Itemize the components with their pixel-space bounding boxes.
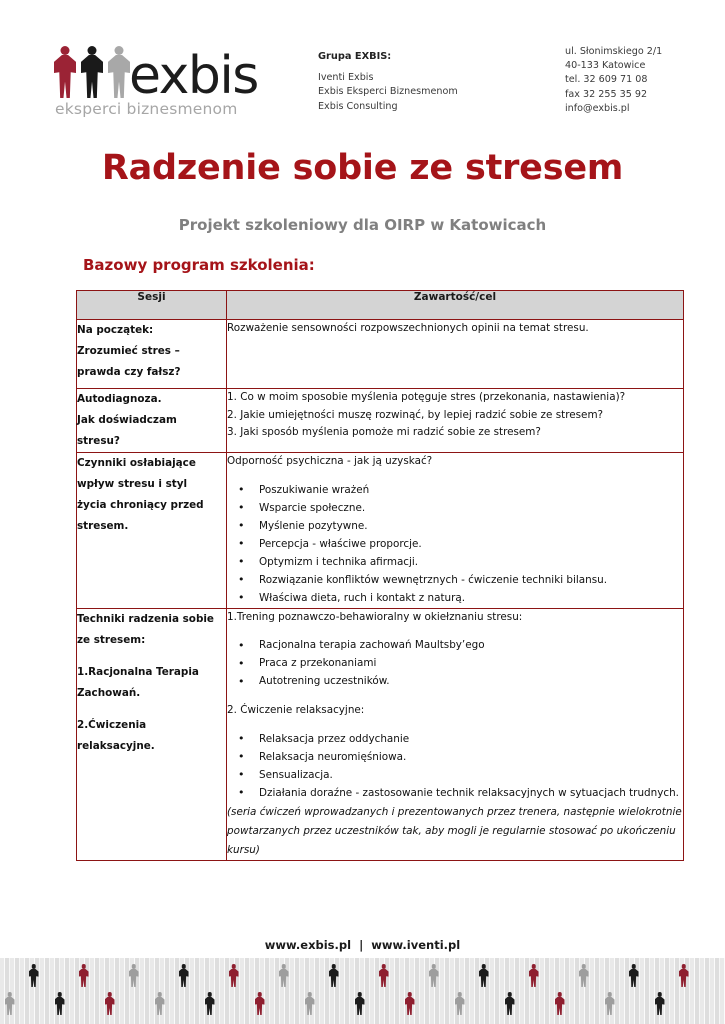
figure-head	[631, 964, 636, 969]
person-figure-icon	[78, 964, 89, 987]
person-figure-icon	[378, 964, 389, 987]
content-subheading: 2. Ćwiczenie relaksacyjne:	[227, 702, 683, 720]
figure-head	[581, 964, 586, 969]
figure-head	[281, 964, 286, 969]
person-figure-icon	[228, 964, 239, 987]
spacer	[227, 691, 683, 702]
link-exbis-website[interactable]: www.exbis.pl	[265, 938, 351, 952]
session-line: Zachowań.	[77, 683, 226, 704]
list-item: Właściwa dieta, ruch i kontakt z naturą.	[259, 590, 683, 608]
figure-body	[379, 969, 389, 988]
figure-head	[88, 46, 97, 55]
figure-head	[115, 46, 124, 55]
figure-body	[429, 969, 439, 988]
person-figure-icon	[428, 964, 439, 987]
table-row: Czynniki osłabiające wpływ stresu i styl…	[77, 453, 684, 609]
session-line: Na początek:	[77, 320, 226, 341]
spacer	[227, 471, 683, 482]
figure-head	[181, 964, 186, 969]
figure-head	[31, 964, 36, 969]
list-item: Autotrening uczestników.	[259, 673, 683, 691]
figure-body	[455, 997, 465, 1016]
session-line: wpływ stresu i styl	[77, 474, 226, 495]
person-figure-icon	[128, 964, 139, 987]
figure-body	[255, 997, 265, 1016]
content-intro: Rozważenie sensowności rozpowszechnionyc…	[227, 320, 683, 338]
list-item: Relaksacja przez oddychanie	[259, 731, 683, 749]
group-company-name: Exbis Eksperci Biznesmenom	[318, 85, 458, 99]
figure-head	[107, 992, 112, 997]
figure-body	[54, 55, 76, 98]
footer-links: www.exbis.pl|www.iventi.pl	[0, 938, 725, 952]
figure-head	[607, 992, 612, 997]
spacer	[227, 626, 683, 637]
figure-body	[579, 969, 589, 988]
figure-body	[355, 997, 365, 1016]
figure-head	[557, 992, 562, 997]
list-item: Sensualizacja.	[259, 767, 683, 785]
content-line: 3. Jaki sposób myślenia pomoże mi radzić…	[227, 424, 683, 442]
figure-head	[657, 992, 662, 997]
list-item: Rozwiązanie konfliktów wewnętrznych - ćw…	[259, 572, 683, 590]
page-title: Radzenie sobie ze stresem	[0, 148, 725, 188]
page-subtitle: Projekt szkoleniowy dla OIRP w Katowicac…	[0, 216, 725, 234]
address-city: 40-133 Katowice	[565, 59, 662, 73]
figure-head	[157, 992, 162, 997]
column-header-sessions: Sesji	[77, 291, 227, 320]
figure-body	[505, 997, 515, 1016]
list-item: Percepcja - właściwe proporcje.	[259, 536, 683, 554]
figure-body	[229, 969, 239, 988]
person-figure-icon	[554, 992, 565, 1015]
figure-body	[629, 969, 639, 988]
figure-head	[331, 964, 336, 969]
group-company-name: Exbis Consulting	[318, 100, 458, 114]
figure-body	[205, 997, 215, 1016]
session-line: stresem.	[77, 516, 226, 537]
table-row: Techniki radzenia sobie ze stresem: 1.Ra…	[77, 608, 684, 860]
session-cell: Autodiagnoza. Jak doświadczam stresu?	[77, 389, 227, 453]
contact-email: info@exbis.pl	[565, 102, 662, 116]
session-cell: Na początek: Zrozumieć stres – prawda cz…	[77, 320, 227, 389]
person-figure-icon	[154, 992, 165, 1015]
company-contact-info: ul. Słonimskiego 2/1 40-133 Katowice tel…	[565, 45, 662, 116]
person-figure-icon	[354, 992, 365, 1015]
figure-head	[57, 992, 62, 997]
figure-body	[5, 997, 15, 1016]
list-item: Wsparcie społeczne.	[259, 500, 683, 518]
session-line: Jak doświadczam	[77, 410, 226, 431]
figure-body	[305, 997, 315, 1016]
session-line: prawda czy fałsz?	[77, 362, 226, 383]
figure-head	[507, 992, 512, 997]
spacer	[77, 704, 226, 715]
session-line: Techniki radzenia sobie	[77, 609, 226, 630]
session-cell: Techniki radzenia sobie ze stresem: 1.Ra…	[77, 608, 227, 860]
footer-separator: |	[351, 938, 371, 952]
content-cell: 1.Trening poznawczo-behawioralny w okieł…	[227, 608, 684, 860]
company-logo: exbis eksperci biznesmenom	[52, 40, 287, 118]
figure-body	[108, 55, 130, 98]
content-line: 1. Co w moim sposobie myślenia potęguje …	[227, 389, 683, 407]
figure-body	[81, 55, 103, 98]
figure-body	[679, 969, 689, 988]
content-subheading: 1.Trening poznawczo-behawioralny w okieł…	[227, 609, 683, 627]
figure-head	[407, 992, 412, 997]
table-row: Na początek: Zrozumieć stres – prawda cz…	[77, 320, 684, 389]
person-figure-icon	[52, 46, 78, 98]
figure-head	[131, 964, 136, 969]
figure-head	[457, 992, 462, 997]
list-item: Racjonalna terapia zachowań Maultsby’ego	[259, 637, 683, 655]
figure-head	[307, 992, 312, 997]
content-line: 2. Jakie umiejętności muszę rozwinąć, by…	[227, 407, 683, 425]
figure-body	[129, 969, 139, 988]
figure-head	[231, 964, 236, 969]
person-figure-icon	[678, 964, 689, 987]
figure-head	[207, 992, 212, 997]
session-line: ze stresem:	[77, 630, 226, 651]
person-figure-icon	[278, 964, 289, 987]
figure-head	[381, 964, 386, 969]
spacer	[77, 651, 226, 662]
address-street: ul. Słonimskiego 2/1	[565, 45, 662, 59]
list-item: Myślenie pozytywne.	[259, 518, 683, 536]
list-item: Działania doraźne - zastosowanie technik…	[259, 785, 683, 803]
figure-head	[257, 992, 262, 997]
content-note: (seria ćwiczeń wprowadzanych i prezentow…	[227, 803, 683, 860]
session-line: Czynniki osłabiające	[77, 453, 226, 474]
session-cell: Czynniki osłabiające wpływ stresu i styl…	[77, 453, 227, 609]
session-line: Autodiagnoza.	[77, 389, 226, 410]
content-intro: Odporność psychiczna - jak ją uzyskać?	[227, 453, 683, 471]
list-item: Praca z przekonaniami	[259, 655, 683, 673]
person-figure-icon	[404, 992, 415, 1015]
company-group-info: Grupa EXBIS: Iventi Exbis Exbis Eksperci…	[318, 50, 458, 114]
figure-body	[555, 997, 565, 1016]
contact-fax: fax 32 255 35 92	[565, 88, 662, 102]
figure-body	[329, 969, 339, 988]
figure-body	[279, 969, 289, 988]
training-program-table: Sesji Zawartość/cel Na początek: Zrozumi…	[76, 290, 684, 861]
figure-head	[357, 992, 362, 997]
content-bullet-list: Relaksacja przez oddychanie Relaksacja n…	[227, 731, 683, 803]
person-figure-icon	[28, 964, 39, 987]
decorative-footer-strip	[0, 958, 725, 1024]
figure-head	[81, 964, 86, 969]
session-line: 1.Racjonalna Terapia	[77, 662, 226, 683]
table-header-row: Sesji Zawartość/cel	[77, 291, 684, 320]
person-figure-icon	[79, 46, 105, 98]
figure-body	[79, 969, 89, 988]
table-row: Autodiagnoza. Jak doświadczam stresu? 1.…	[77, 389, 684, 453]
figure-head	[431, 964, 436, 969]
person-figure-icon	[604, 992, 615, 1015]
figure-body	[105, 997, 115, 1016]
person-figure-icon	[304, 992, 315, 1015]
person-figure-icon	[454, 992, 465, 1015]
content-cell: 1. Co w moim sposobie myślenia potęguje …	[227, 389, 684, 453]
session-line: 2.Ćwiczenia	[77, 715, 226, 736]
figure-body	[55, 997, 65, 1016]
list-item: Poszukiwanie wrażeń	[259, 482, 683, 500]
list-item: Optymizm i technika afirmacji.	[259, 554, 683, 572]
logo-figures	[52, 46, 132, 98]
person-figure-icon	[628, 964, 639, 987]
figure-body	[179, 969, 189, 988]
session-line: stresu?	[77, 431, 226, 452]
spacer	[227, 720, 683, 731]
figure-body	[155, 997, 165, 1016]
person-figure-icon	[328, 964, 339, 987]
section-heading: Bazowy program szkolenia:	[83, 256, 315, 274]
logo-wordmark: exbis	[129, 50, 258, 102]
content-bullet-list: Racjonalna terapia zachowań Maultsby’ego…	[227, 637, 683, 691]
content-cell: Odporność psychiczna - jak ją uzyskać? P…	[227, 453, 684, 609]
person-figure-icon	[254, 992, 265, 1015]
contact-phone: tel. 32 609 71 08	[565, 73, 662, 87]
session-line: Zrozumieć stres –	[77, 341, 226, 362]
content-bullet-list: Poszukiwanie wrażeń Wsparcie społeczne. …	[227, 482, 683, 608]
figure-head	[7, 992, 12, 997]
list-item: Relaksacja neuromięśniowa.	[259, 749, 683, 767]
person-figure-icon	[654, 992, 665, 1015]
figure-body	[605, 997, 615, 1016]
group-title: Grupa EXBIS:	[318, 50, 458, 64]
logo-row: exbis	[52, 40, 287, 98]
group-company-name: Iventi Exbis	[318, 71, 458, 85]
session-line: relaksacyjne.	[77, 736, 226, 757]
figure-body	[655, 997, 665, 1016]
person-figure-icon	[504, 992, 515, 1015]
person-figure-icon	[528, 964, 539, 987]
figure-head	[531, 964, 536, 969]
column-header-content: Zawartość/cel	[227, 291, 684, 320]
person-figure-icon	[54, 992, 65, 1015]
figure-body	[405, 997, 415, 1016]
figure-head	[481, 964, 486, 969]
person-figure-icon	[4, 992, 15, 1015]
person-figure-icon	[178, 964, 189, 987]
page-header: exbis eksperci biznesmenom Grupa EXBIS: …	[0, 36, 725, 136]
figure-body	[529, 969, 539, 988]
person-figure-icon	[578, 964, 589, 987]
figure-body	[479, 969, 489, 988]
person-figure-icon	[478, 964, 489, 987]
figure-head	[61, 46, 70, 55]
content-cell: Rozważenie sensowności rozpowszechnionyc…	[227, 320, 684, 389]
figure-head	[681, 964, 686, 969]
person-figure-icon	[104, 992, 115, 1015]
link-iventi-website[interactable]: www.iventi.pl	[371, 938, 460, 952]
figure-body	[29, 969, 39, 988]
person-figure-icon	[204, 992, 215, 1015]
session-line: życia chroniący przed	[77, 495, 226, 516]
